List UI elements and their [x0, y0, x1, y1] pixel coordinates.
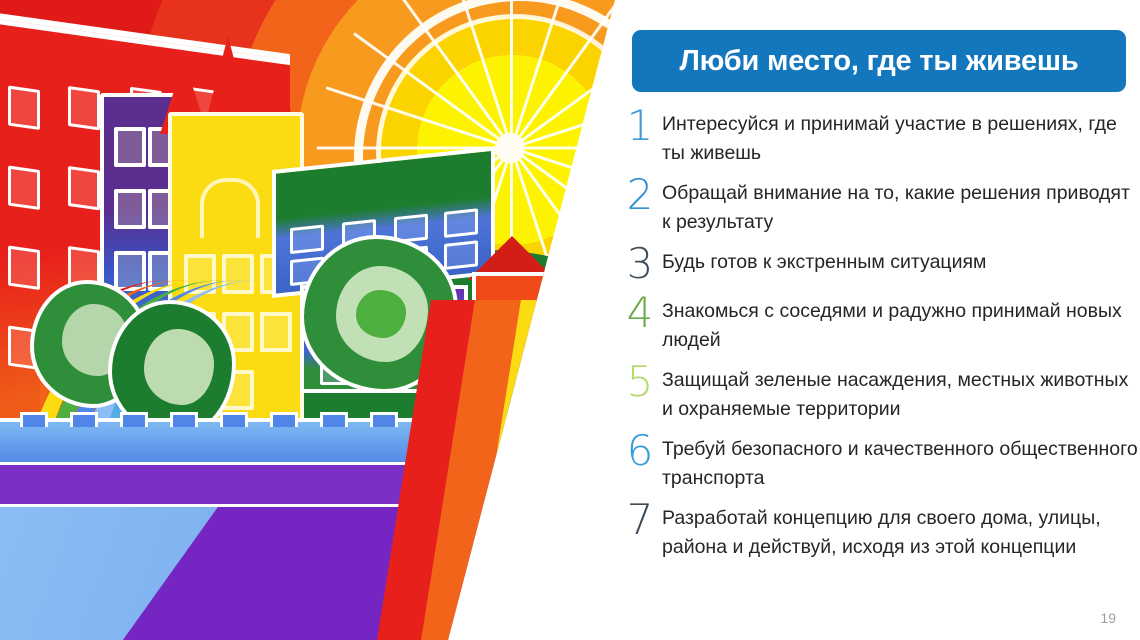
slide-title-bar: Люби место, где ты живешь [632, 30, 1126, 92]
list-item-number: 7 [618, 498, 662, 542]
list-item-number: 5 [618, 360, 662, 404]
list-item: 7 Разработай концепцию для своего дома, … [618, 502, 1138, 562]
yellow-tower-arch [200, 178, 260, 238]
list-item-text: Защищай зеленые насаждения, местных живо… [662, 364, 1138, 424]
slide-root: Люби место, где ты живешь 1 Интересуйся … [0, 0, 1140, 640]
list-item-text: Разработай концепцию для своего дома, ул… [662, 502, 1138, 562]
list-item-text: Обращай внимание на то, какие решения пр… [662, 177, 1138, 237]
purple-road-band [0, 462, 640, 507]
blue-river-band [0, 418, 640, 466]
list-item: 5 Защищай зеленые насаждения, местных жи… [618, 364, 1138, 424]
page-title: Люби место, где ты живешь [679, 45, 1078, 78]
list-item-number: 4 [618, 291, 662, 335]
slide-number: 19 [1100, 610, 1116, 626]
tree [140, 325, 218, 409]
list-item: 2 Обращай внимание на то, какие решения … [618, 177, 1138, 237]
list-item-text: Интересуйся и принимай участие в решения… [662, 108, 1138, 168]
list-item-number: 6 [618, 429, 662, 473]
list-item-number: 1 [618, 104, 662, 148]
wheel-hub [495, 133, 525, 163]
list-item: 6 Требуй безопасного и качественного общ… [618, 433, 1138, 493]
list-item-number: 3 [618, 242, 662, 286]
list-item-text: Требуй безопасного и качественного общес… [662, 433, 1138, 493]
list-item-text: Будь готов к экстренным ситуациям [662, 246, 1138, 277]
numbered-list: 1 Интересуйся и принимай участие в решен… [618, 108, 1138, 571]
list-item: 3 Будь готов к экстренным ситуациям [618, 246, 1138, 286]
list-item-text: Знакомься с соседями и радужно принимай … [662, 295, 1138, 355]
tree [352, 286, 410, 342]
list-item-number: 2 [618, 173, 662, 217]
list-item: 1 Интересуйся и принимай участие в решен… [618, 108, 1138, 168]
artwork-image [0, 0, 640, 640]
list-item: 4 Знакомься с соседями и радужно принима… [618, 295, 1138, 355]
